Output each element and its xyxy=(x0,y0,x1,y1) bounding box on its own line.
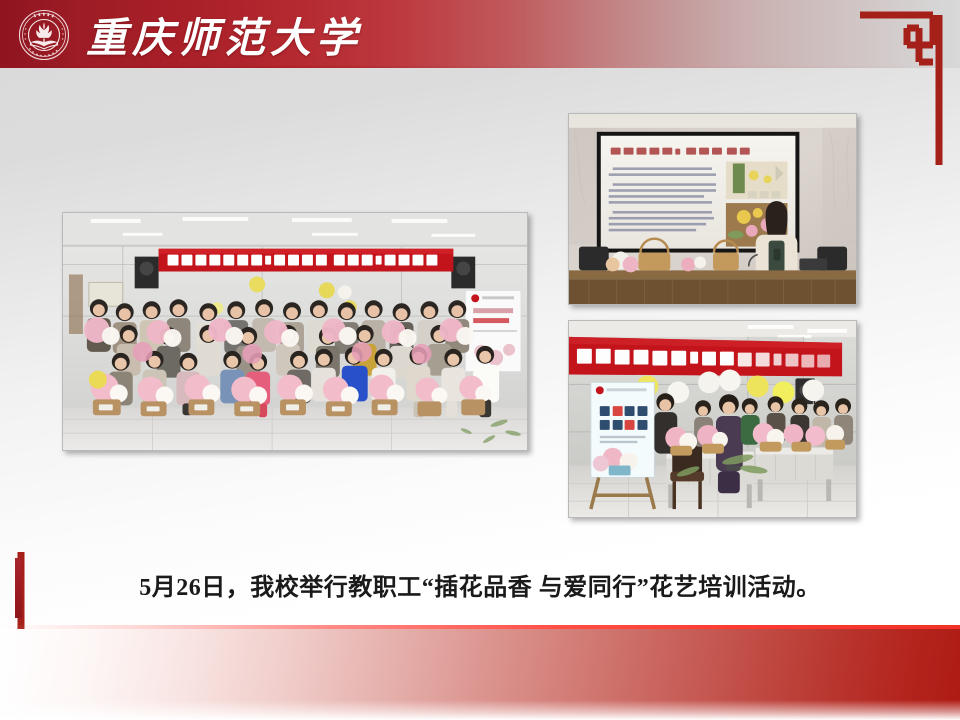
presentation-slide: 重庆师范大学 xyxy=(0,0,960,720)
chinese-meander-corner-top-right-icon xyxy=(856,8,946,168)
chongqing-normal-university-emblem-icon xyxy=(18,9,70,61)
group-photo[interactable] xyxy=(62,212,528,451)
caption-text: 5月26日，我校举行教职工“插花品香 与爱同行”花艺培训活动。 xyxy=(60,552,900,616)
caption-accent-bar xyxy=(15,558,22,618)
header-underline xyxy=(0,66,960,68)
footer-fade xyxy=(0,700,960,720)
lecture-photo[interactable] xyxy=(568,113,857,305)
page-title: 重庆师范大学 xyxy=(86,4,362,64)
workshop-photo[interactable] xyxy=(568,320,857,518)
